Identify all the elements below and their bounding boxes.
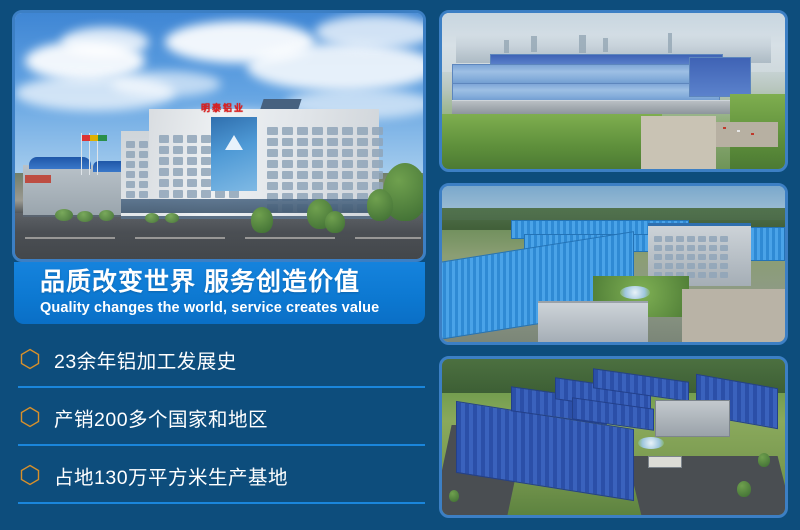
tree	[251, 207, 273, 233]
park-rendering-canvas	[442, 359, 785, 515]
plaza-road	[682, 289, 785, 342]
entrance-gate	[648, 456, 682, 468]
aerial-production-base-photo	[439, 183, 788, 345]
shrub	[165, 213, 179, 223]
list-divider	[18, 502, 425, 504]
green-belt	[442, 114, 662, 169]
tree	[367, 189, 393, 221]
shrub	[55, 209, 73, 221]
tree	[325, 211, 345, 233]
hexagon-icon	[20, 406, 40, 428]
shrub	[99, 210, 114, 221]
window-grid	[654, 236, 728, 278]
shrub	[145, 213, 159, 223]
glass-curtain-panel	[211, 117, 257, 191]
list-item[interactable]: 产销200多个国家和地区	[14, 388, 426, 446]
flag	[98, 135, 107, 141]
cloud-shape	[111, 71, 221, 97]
red-signboard	[25, 175, 51, 183]
aerial-production-canvas	[442, 186, 785, 342]
slogan-banner: 品质改变世界 服务创造价值 Quality changes the world,…	[14, 262, 425, 324]
fountain	[638, 437, 664, 449]
hexagon-icon	[20, 348, 40, 370]
company-logo-mark	[225, 135, 243, 150]
headquarters-photo-canvas: 明泰铝业	[15, 13, 423, 259]
aerial-factory-complex-photo	[439, 10, 788, 172]
distant-building	[668, 33, 672, 53]
factory-roof	[689, 57, 751, 98]
highlights-list: 23余年铝加工发展史 产销200多个国家和地区 占地130万平方米生产基地	[14, 330, 426, 504]
cloud-shape	[247, 43, 423, 91]
tree	[758, 453, 770, 467]
slogan-subline: Quality changes the world, service creat…	[40, 298, 425, 318]
fountain	[620, 286, 650, 299]
road-marking	[355, 237, 421, 239]
parked-vehicle	[737, 130, 740, 132]
main-gate-building	[655, 400, 730, 437]
list-item[interactable]: 占地130万平方米生产基地	[14, 446, 426, 504]
distant-building	[504, 40, 509, 53]
industrial-park-rendering-photo	[439, 356, 788, 518]
building-base-band	[121, 199, 379, 213]
paved-yard	[641, 116, 716, 169]
side-office-building	[538, 301, 648, 342]
distant-building	[531, 36, 537, 52]
factory-roof	[452, 83, 720, 102]
distant-building	[603, 38, 608, 52]
road-marking	[25, 237, 115, 239]
list-item-label: 占地130万平方米生产基地	[54, 461, 288, 490]
tree	[449, 490, 459, 502]
building-roof-sign: 明泰铝业	[201, 101, 245, 114]
list-item[interactable]: 23余年铝加工发展史	[14, 330, 426, 388]
factory-wall	[452, 100, 750, 114]
list-item-label: 23余年铝加工发展史	[54, 345, 237, 374]
list-item-label: 产销200多个国家和地区	[54, 403, 268, 432]
cloud-shape	[315, 15, 423, 49]
company-profile-banner: 明泰铝业 品质改变世界 服务创造价值 Quality changes the w…	[0, 0, 800, 530]
slogan-headline: 品质改变世界 服务创造价值	[40, 267, 425, 297]
shrub	[77, 211, 93, 222]
hexagon-icon	[20, 464, 40, 486]
parked-vehicle	[751, 133, 754, 135]
tree	[737, 481, 751, 497]
parked-vehicle	[723, 127, 726, 129]
road-marking	[245, 237, 335, 239]
factory-roof	[452, 64, 720, 84]
company-headquarters-photo: 明泰铝业	[12, 10, 426, 262]
distant-building	[579, 35, 586, 53]
aerial-factory-canvas	[442, 13, 785, 169]
cloud-shape	[61, 27, 149, 57]
front-road	[15, 213, 423, 259]
road-marking	[135, 237, 225, 239]
